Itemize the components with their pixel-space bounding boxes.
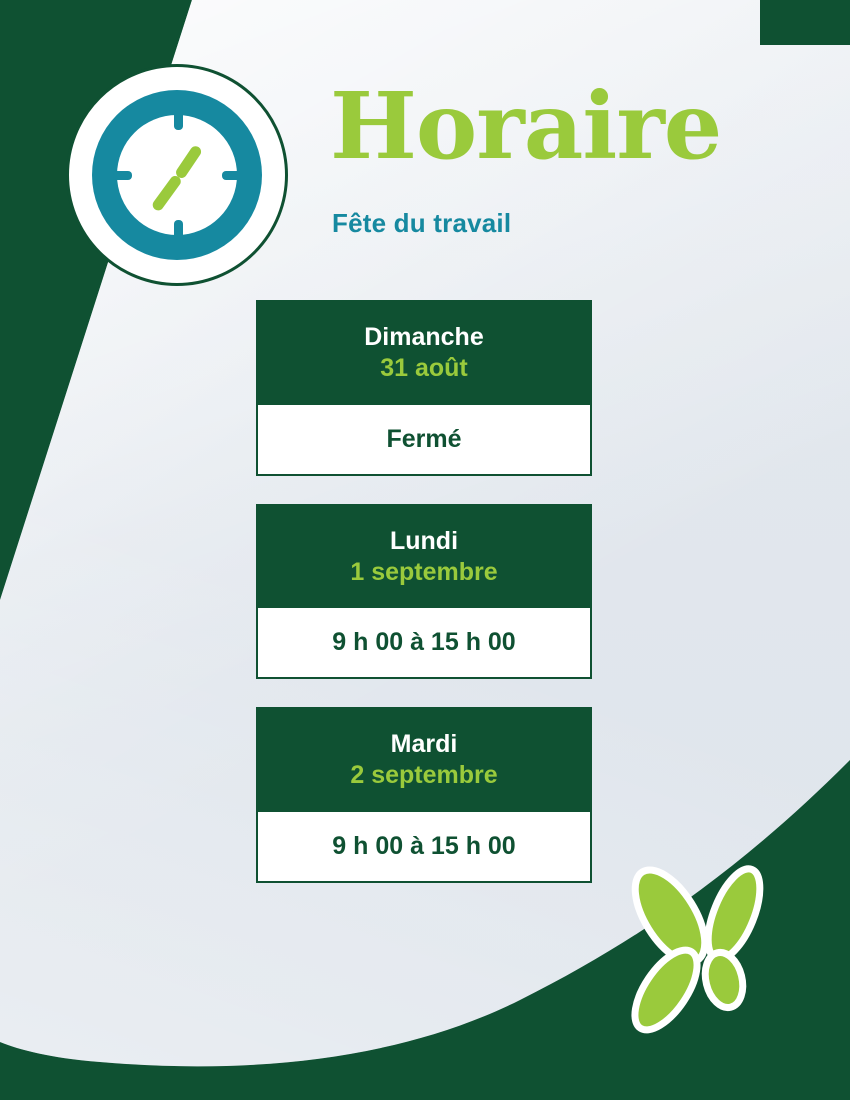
schedule-card-header: Mardi 2 septembre: [256, 707, 592, 812]
schedule-list: Dimanche 31 août Fermé Lundi 1 septembre…: [256, 300, 592, 883]
clock-hour-hand: [174, 144, 203, 180]
butterfly-logo: [608, 858, 798, 1048]
schedule-card-header: Lundi 1 septembre: [256, 504, 592, 609]
schedule-hours-label: Fermé: [268, 425, 580, 454]
page-title: Horaire: [330, 80, 721, 172]
clock-tick-12-icon: [174, 111, 183, 130]
schedule-date-label: 1 septembre: [266, 557, 582, 588]
schedule-card: Mardi 2 septembre 9 h 00 à 15 h 00: [256, 707, 592, 883]
schedule-date-label: 2 septembre: [266, 760, 582, 791]
schedule-card-body: 9 h 00 à 15 h 00: [256, 812, 592, 883]
schedule-card-header: Dimanche 31 août: [256, 300, 592, 405]
schedule-date-label: 31 août: [266, 353, 582, 384]
schedule-hours-label: 9 h 00 à 15 h 00: [268, 832, 580, 861]
clock-tick-9-icon: [113, 171, 132, 180]
clock-tick-6-icon: [174, 220, 183, 239]
schedule-day-label: Mardi: [266, 729, 582, 760]
schedule-day-label: Lundi: [266, 526, 582, 557]
clock-face: [117, 115, 237, 235]
schedule-card-body: Fermé: [256, 405, 592, 476]
schedule-card: Dimanche 31 août Fermé: [256, 300, 592, 476]
clock-teal-ring: [92, 90, 262, 260]
schedule-hours-label: 9 h 00 à 15 h 00: [268, 628, 580, 657]
schedule-card-body: 9 h 00 à 15 h 00: [256, 608, 592, 679]
schedule-card: Lundi 1 septembre 9 h 00 à 15 h 00: [256, 504, 592, 680]
schedule-day-label: Dimanche: [266, 322, 582, 353]
page-subtitle: Fête du travail: [332, 208, 511, 239]
top-right-corner-accent: [760, 0, 850, 45]
clock-icon: [66, 64, 288, 286]
clock-tick-3-icon: [222, 171, 241, 180]
clock-minute-hand: [151, 174, 183, 213]
schedule-poster: Horaire Fête du travail Dimanche 31 août…: [0, 0, 850, 1100]
